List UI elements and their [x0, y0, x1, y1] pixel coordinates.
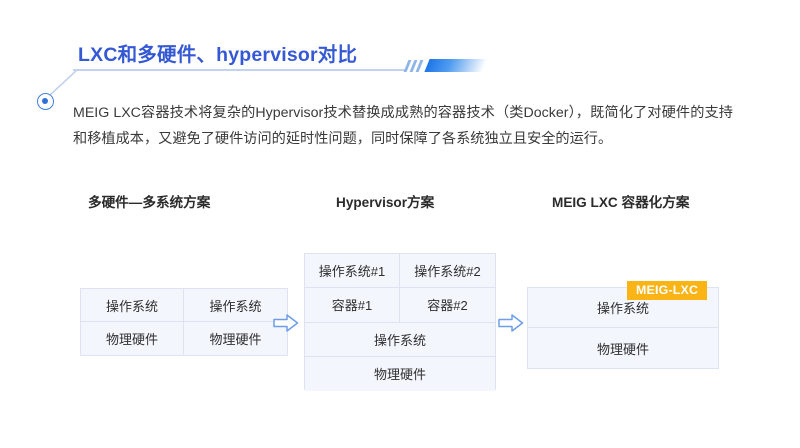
flow-arrow-icon — [273, 313, 299, 333]
diagram-row: 容器#1 容器#2 — [305, 288, 495, 322]
diagram-block-multi-hardware: 操作系统 操作系统 物理硬件 物理硬件 — [80, 288, 288, 356]
diagram-cell: 操作系统#2 — [400, 254, 495, 287]
diagram-cell: 物理硬件 — [528, 328, 718, 368]
diagram-row: 物理硬件 — [305, 357, 495, 391]
column-heading-meig-lxc: MEIG LXC 容器化方案 — [552, 191, 689, 211]
title-underline — [73, 69, 405, 71]
diagram-row: 物理硬件 — [528, 328, 718, 368]
ring-dot-icon — [37, 93, 54, 110]
diagram-cell: 操作系统 — [305, 323, 495, 356]
status-badge-meig-lxc: MEIG-LXC — [627, 281, 707, 300]
diagram-row: 操作系统 操作系统 — [81, 289, 287, 322]
diagram-cell: 物理硬件 — [184, 322, 287, 355]
diagram-cell: 操作系统#1 — [305, 254, 400, 287]
column-heading-hypervisor: Hypervisor方案 — [336, 191, 434, 211]
diagram-cell: 操作系统 — [81, 289, 184, 321]
page-title: LXC和多硬件、hypervisor对比 — [78, 38, 357, 67]
diagram-cell: 物理硬件 — [305, 357, 495, 391]
diagram-cell: 物理硬件 — [81, 322, 184, 355]
intro-paragraph: MEIG LXC容器技术将复杂的Hypervisor技术替换成成熟的容器技术（类… — [73, 100, 733, 152]
column-heading-multi-hardware: 多硬件—多系统方案 — [88, 191, 210, 211]
flow-arrow-icon — [498, 313, 524, 333]
diagram-cell: 操作系统 — [184, 289, 287, 321]
title-gradient-bar — [424, 59, 487, 72]
diagram-row: 操作系统#1 操作系统#2 — [305, 254, 495, 288]
diagram-cell: 容器#1 — [305, 288, 400, 321]
diagram-row: 操作系统 — [305, 323, 495, 357]
diagram-cell: 容器#2 — [400, 288, 495, 321]
diagram-block-hypervisor: 操作系统#1 操作系统#2 容器#1 容器#2 操作系统 物理硬件 — [304, 253, 496, 390]
diagram-row: 物理硬件 物理硬件 — [81, 322, 287, 355]
title-diagonal-line — [44, 69, 78, 97]
